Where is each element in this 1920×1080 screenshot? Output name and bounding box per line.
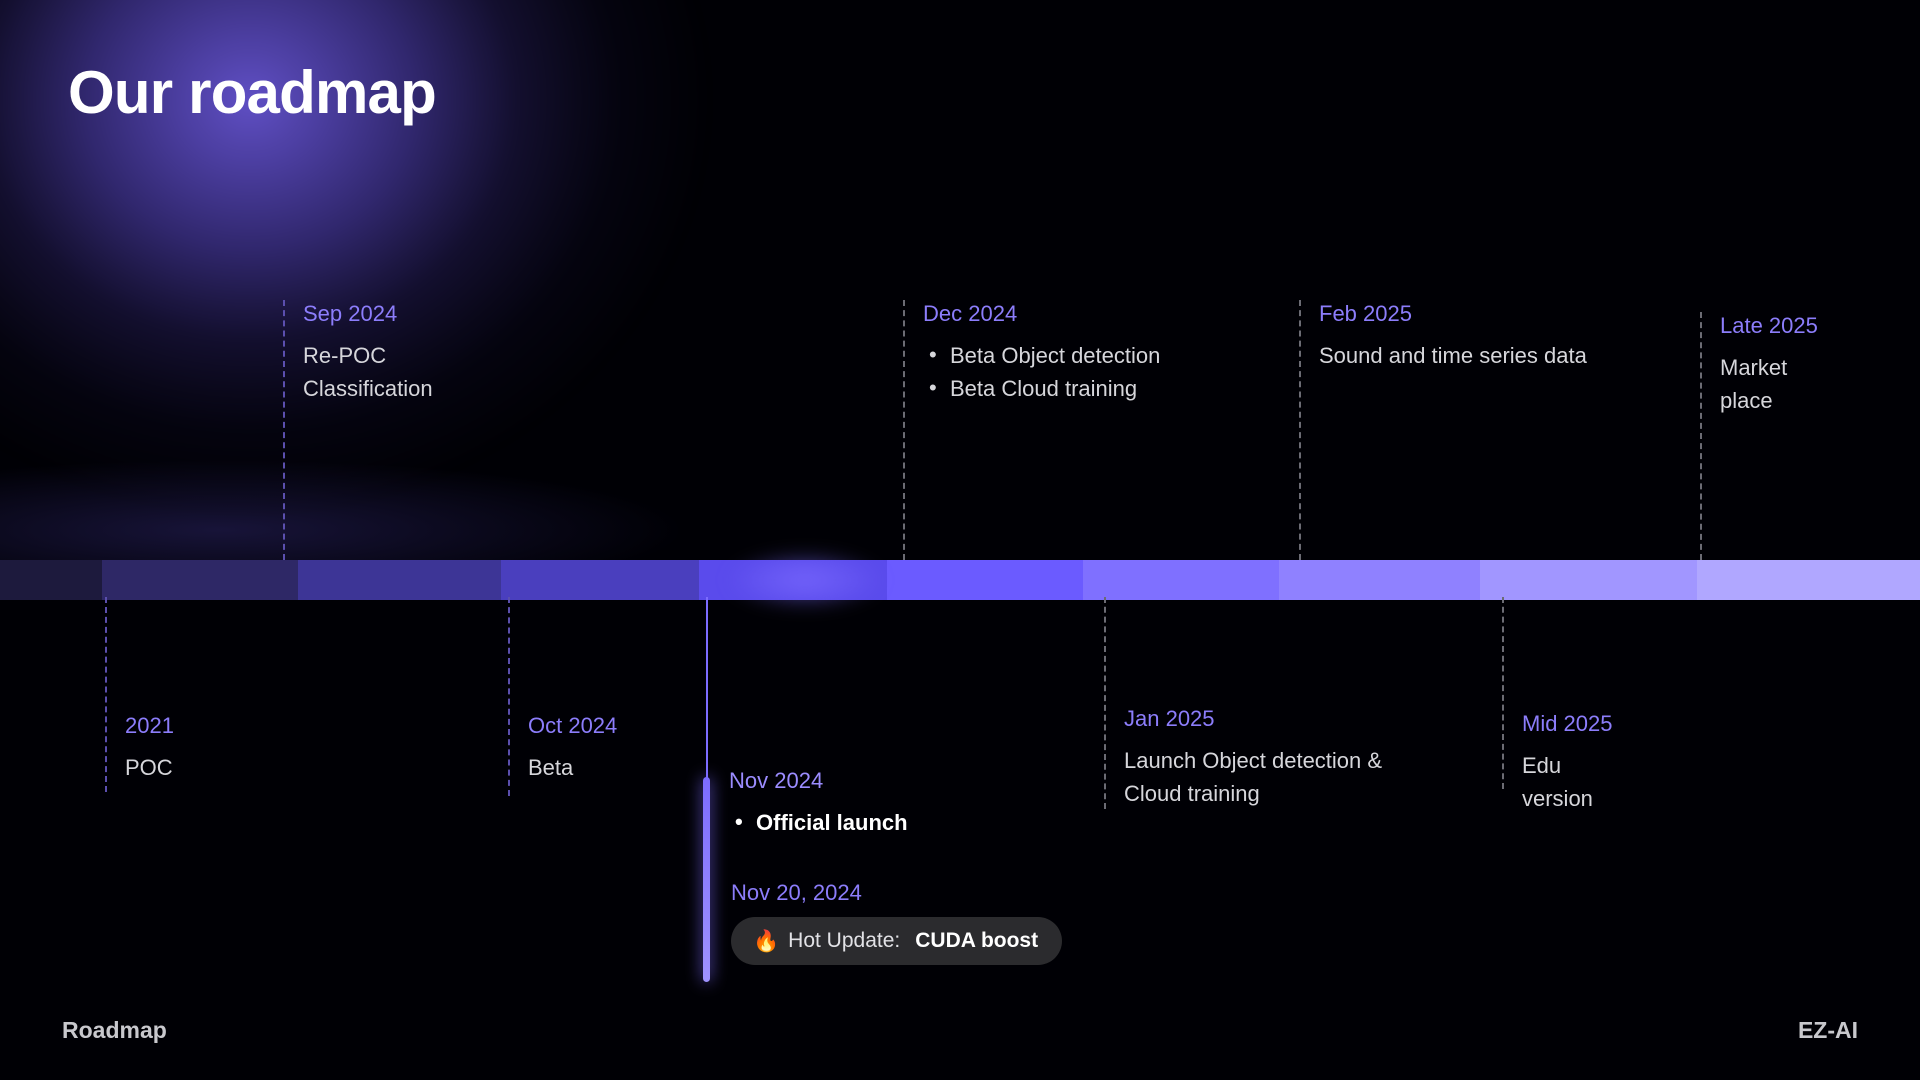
timeline-segment-6 bbox=[1083, 560, 1279, 600]
milestone-connector bbox=[1299, 300, 1301, 560]
milestone-description: Launch Object detection & Cloud training bbox=[1124, 744, 1444, 811]
milestone-description: Beta bbox=[528, 751, 617, 784]
hot-update-pill[interactable]: 🔥 Hot Update: CUDA boost bbox=[731, 917, 1062, 965]
footer-left-label: Roadmap bbox=[62, 1017, 167, 1044]
milestone-connector bbox=[1104, 597, 1106, 809]
timeline-segment-9 bbox=[1697, 560, 1920, 600]
timeline-segment-7 bbox=[1279, 560, 1481, 600]
timeline-bar bbox=[0, 560, 1920, 600]
hot-update-block[interactable]: Nov 20, 2024 🔥 Hot Update: CUDA boost bbox=[731, 880, 1062, 965]
background-glow-bar bbox=[0, 430, 1100, 630]
milestone-bullet-list: Official launch bbox=[729, 806, 908, 839]
milestone-connector bbox=[703, 777, 710, 982]
milestone-description: Re-POC Classification bbox=[303, 339, 433, 406]
milestone-connector bbox=[1700, 312, 1702, 560]
timeline-segments bbox=[0, 560, 1920, 600]
list-item: Beta Cloud training bbox=[923, 372, 1160, 405]
milestone-connector-thin bbox=[706, 597, 708, 782]
milestone-connector bbox=[1502, 597, 1504, 789]
hot-update-date: Nov 20, 2024 bbox=[731, 880, 1062, 906]
milestone-connector bbox=[283, 300, 285, 560]
list-item: Official launch bbox=[729, 806, 908, 839]
timeline-segment-3 bbox=[501, 560, 699, 600]
milestone-date: Jan 2025 bbox=[1124, 705, 1444, 733]
milestone-description: POC bbox=[125, 751, 174, 784]
timeline-segment-1 bbox=[102, 560, 298, 600]
timeline-segment-2 bbox=[298, 560, 502, 600]
milestone-date: Dec 2024 bbox=[923, 300, 1160, 328]
milestone-date: 2021 bbox=[125, 712, 174, 740]
fire-icon: 🔥 bbox=[753, 931, 779, 952]
hot-update-value: CUDA boost bbox=[915, 929, 1038, 953]
milestone-description: Sound and time series data bbox=[1319, 339, 1589, 372]
milestone-date: Nov 2024 bbox=[729, 767, 908, 795]
footer-right-label: EZ-AI bbox=[1798, 1017, 1858, 1044]
roadmap-slide: Our roadmap Sep 2024 Re-POC Classificati… bbox=[0, 0, 1920, 1080]
timeline-segment-8 bbox=[1480, 560, 1697, 600]
milestone-connector bbox=[508, 597, 510, 796]
milestone-date: Feb 2025 bbox=[1319, 300, 1589, 328]
hot-update-label: Hot Update: bbox=[788, 929, 900, 953]
milestone-date: Sep 2024 bbox=[303, 300, 433, 328]
timeline-segment-0 bbox=[0, 560, 102, 600]
milestone-bullet-list: Beta Object detection Beta Cloud trainin… bbox=[923, 339, 1160, 406]
milestone-date: Oct 2024 bbox=[528, 712, 617, 740]
milestone-connector bbox=[903, 300, 905, 560]
milestone-connector bbox=[105, 597, 107, 792]
list-item: Beta Object detection bbox=[923, 339, 1160, 372]
milestone-description: Edu version bbox=[1522, 749, 1613, 816]
timeline-segment-5 bbox=[887, 560, 1083, 600]
milestone-date: Mid 2025 bbox=[1522, 710, 1613, 738]
milestone-description: Market place bbox=[1720, 351, 1818, 418]
page-title: Our roadmap bbox=[68, 58, 436, 127]
milestone-date: Late 2025 bbox=[1720, 312, 1818, 340]
timeline-segment-4 bbox=[699, 560, 887, 600]
